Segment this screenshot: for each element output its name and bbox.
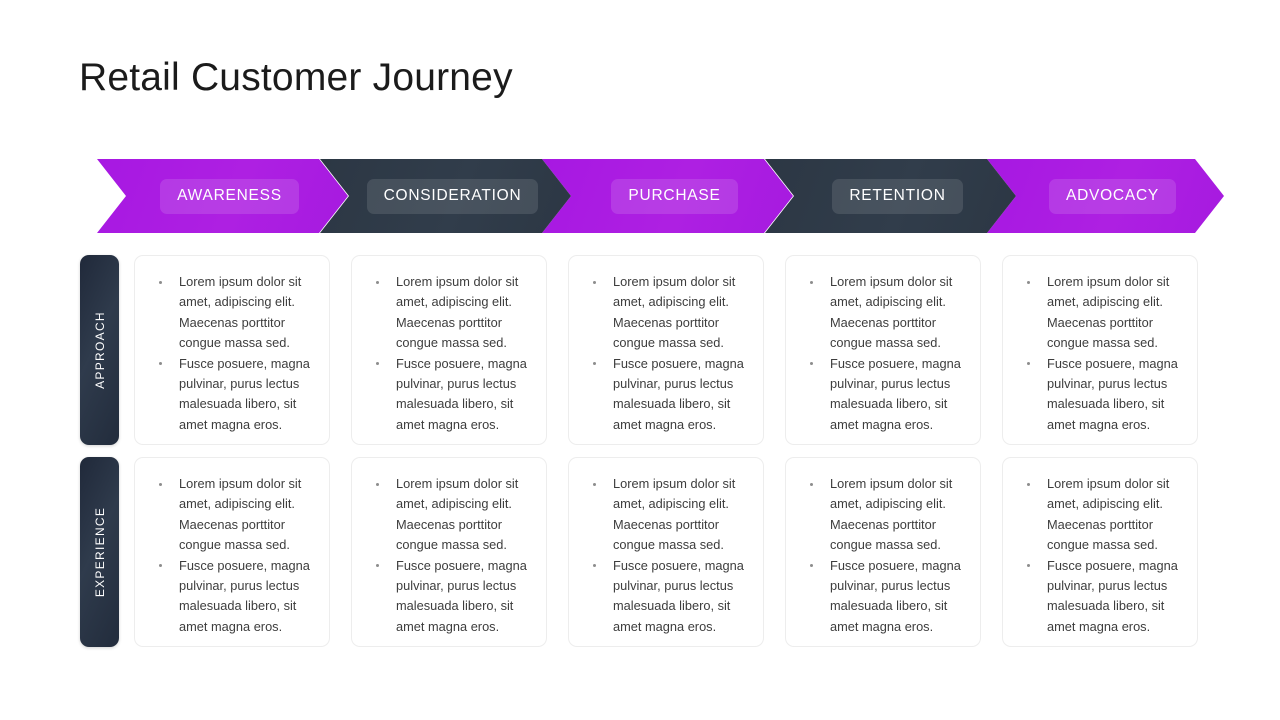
bullet-list: Lorem ipsum dolor sit amet, adipiscing e… [147,474,319,637]
bullet-list: Lorem ipsum dolor sit amet, adipiscing e… [1015,474,1187,637]
list-item-text: Lorem ipsum dolor sit amet, adipiscing e… [179,476,301,552]
list-item-text: Lorem ipsum dolor sit amet, adipiscing e… [830,274,952,350]
content-card[interactable]: Lorem ipsum dolor sit amet, adipiscing e… [568,457,764,647]
list-item: Fusce posuere, magna pulvinar, purus lec… [581,556,753,638]
bullet-list: Lorem ipsum dolor sit amet, adipiscing e… [1015,272,1187,435]
bullet-dot-icon [159,281,162,284]
list-item: Lorem ipsum dolor sit amet, adipiscing e… [1015,474,1187,556]
bullet-dot-icon [376,281,379,284]
list-item-text: Fusce posuere, magna pulvinar, purus lec… [830,558,961,634]
list-item-text: Fusce posuere, magna pulvinar, purus lec… [396,558,527,634]
list-item-text: Fusce posuere, magna pulvinar, purus lec… [613,356,744,432]
list-item-text: Lorem ipsum dolor sit amet, adipiscing e… [396,476,518,552]
bullet-list: Lorem ipsum dolor sit amet, adipiscing e… [147,272,319,435]
bullet-dot-icon [810,281,813,284]
list-item: Fusce posuere, magna pulvinar, purus lec… [364,556,536,638]
bullet-dot-icon [159,362,162,365]
list-item-text: Fusce posuere, magna pulvinar, purus lec… [613,558,744,634]
list-item: Lorem ipsum dolor sit amet, adipiscing e… [364,474,536,556]
journey-stage-awareness[interactable]: AWARENESS [97,159,348,233]
row-tab-experience[interactable]: EXPERIENCE [80,457,119,647]
journey-stage-advocacy[interactable]: ADVOCACY [987,159,1224,233]
bullet-dot-icon [1027,362,1030,365]
row-tab-approach[interactable]: APPROACH [80,255,119,445]
list-item: Lorem ipsum dolor sit amet, adipiscing e… [1015,272,1187,354]
bullet-dot-icon [593,483,596,486]
journey-stage-retention[interactable]: RETENTION [765,159,1016,233]
content-card[interactable]: Lorem ipsum dolor sit amet, adipiscing e… [785,457,981,647]
list-item: Fusce posuere, magna pulvinar, purus lec… [798,556,970,638]
bullet-list: Lorem ipsum dolor sit amet, adipiscing e… [798,474,970,637]
bullet-dot-icon [159,483,162,486]
bullet-list: Lorem ipsum dolor sit amet, adipiscing e… [364,474,536,637]
bullet-dot-icon [376,564,379,567]
list-item-text: Lorem ipsum dolor sit amet, adipiscing e… [613,476,735,552]
bullet-dot-icon [810,564,813,567]
list-item: Lorem ipsum dolor sit amet, adipiscing e… [364,272,536,354]
bullet-dot-icon [593,281,596,284]
bullet-dot-icon [159,564,162,567]
bullet-list: Lorem ipsum dolor sit amet, adipiscing e… [581,474,753,637]
row-tab-label: EXPERIENCE [93,507,107,597]
list-item-text: Fusce posuere, magna pulvinar, purus lec… [396,356,527,432]
list-item: Fusce posuere, magna pulvinar, purus lec… [798,354,970,436]
content-card[interactable]: Lorem ipsum dolor sit amet, adipiscing e… [785,255,981,445]
stage-label: RETENTION [832,179,962,214]
list-item: Lorem ipsum dolor sit amet, adipiscing e… [147,474,319,556]
bullet-dot-icon [593,564,596,567]
list-item: Fusce posuere, magna pulvinar, purus lec… [1015,556,1187,638]
bullet-dot-icon [376,483,379,486]
list-item-text: Fusce posuere, magna pulvinar, purus lec… [1047,558,1178,634]
list-item: Lorem ipsum dolor sit amet, adipiscing e… [581,272,753,354]
list-item: Fusce posuere, magna pulvinar, purus lec… [147,556,319,638]
content-card[interactable]: Lorem ipsum dolor sit amet, adipiscing e… [1002,457,1198,647]
list-item: Lorem ipsum dolor sit amet, adipiscing e… [581,474,753,556]
stage-label: ADVOCACY [1049,179,1176,214]
stage-label: CONSIDERATION [367,179,539,214]
journey-stage-consideration[interactable]: CONSIDERATION [320,159,571,233]
list-item: Fusce posuere, magna pulvinar, purus lec… [147,354,319,436]
bullet-dot-icon [810,362,813,365]
list-item-text: Fusce posuere, magna pulvinar, purus lec… [179,558,310,634]
journey-stage-band: AWARENESSCONSIDERATIONPURCHASERETENTIONA… [97,159,1224,233]
list-item: Fusce posuere, magna pulvinar, purus lec… [581,354,753,436]
list-item-text: Fusce posuere, magna pulvinar, purus lec… [179,356,310,432]
bullet-dot-icon [1027,564,1030,567]
bullet-list: Lorem ipsum dolor sit amet, adipiscing e… [798,272,970,435]
bullet-dot-icon [593,362,596,365]
list-item-text: Lorem ipsum dolor sit amet, adipiscing e… [1047,274,1169,350]
list-item: Fusce posuere, magna pulvinar, purus lec… [1015,354,1187,436]
list-item-text: Fusce posuere, magna pulvinar, purus lec… [1047,356,1178,432]
bullet-dot-icon [1027,281,1030,284]
content-card[interactable]: Lorem ipsum dolor sit amet, adipiscing e… [568,255,764,445]
list-item-text: Fusce posuere, magna pulvinar, purus lec… [830,356,961,432]
list-item-text: Lorem ipsum dolor sit amet, adipiscing e… [179,274,301,350]
list-item: Lorem ipsum dolor sit amet, adipiscing e… [798,474,970,556]
bullet-dot-icon [810,483,813,486]
content-card[interactable]: Lorem ipsum dolor sit amet, adipiscing e… [351,255,547,445]
content-card[interactable]: Lorem ipsum dolor sit amet, adipiscing e… [1002,255,1198,445]
list-item-text: Lorem ipsum dolor sit amet, adipiscing e… [830,476,952,552]
content-card[interactable]: Lorem ipsum dolor sit amet, adipiscing e… [134,457,330,647]
list-item-text: Lorem ipsum dolor sit amet, adipiscing e… [396,274,518,350]
list-item: Lorem ipsum dolor sit amet, adipiscing e… [147,272,319,354]
page-title: Retail Customer Journey [79,52,513,104]
content-card[interactable]: Lorem ipsum dolor sit amet, adipiscing e… [351,457,547,647]
row-tab-label: APPROACH [93,311,107,389]
list-item: Lorem ipsum dolor sit amet, adipiscing e… [798,272,970,354]
journey-stage-purchase[interactable]: PURCHASE [542,159,793,233]
list-item-text: Lorem ipsum dolor sit amet, adipiscing e… [613,274,735,350]
bullet-list: Lorem ipsum dolor sit amet, adipiscing e… [364,272,536,435]
bullet-list: Lorem ipsum dolor sit amet, adipiscing e… [581,272,753,435]
bullet-dot-icon [1027,483,1030,486]
content-card[interactable]: Lorem ipsum dolor sit amet, adipiscing e… [134,255,330,445]
list-item-text: Lorem ipsum dolor sit amet, adipiscing e… [1047,476,1169,552]
bullet-dot-icon [376,362,379,365]
stage-label: PURCHASE [611,179,737,214]
stage-label: AWARENESS [160,179,299,214]
list-item: Fusce posuere, magna pulvinar, purus lec… [364,354,536,436]
